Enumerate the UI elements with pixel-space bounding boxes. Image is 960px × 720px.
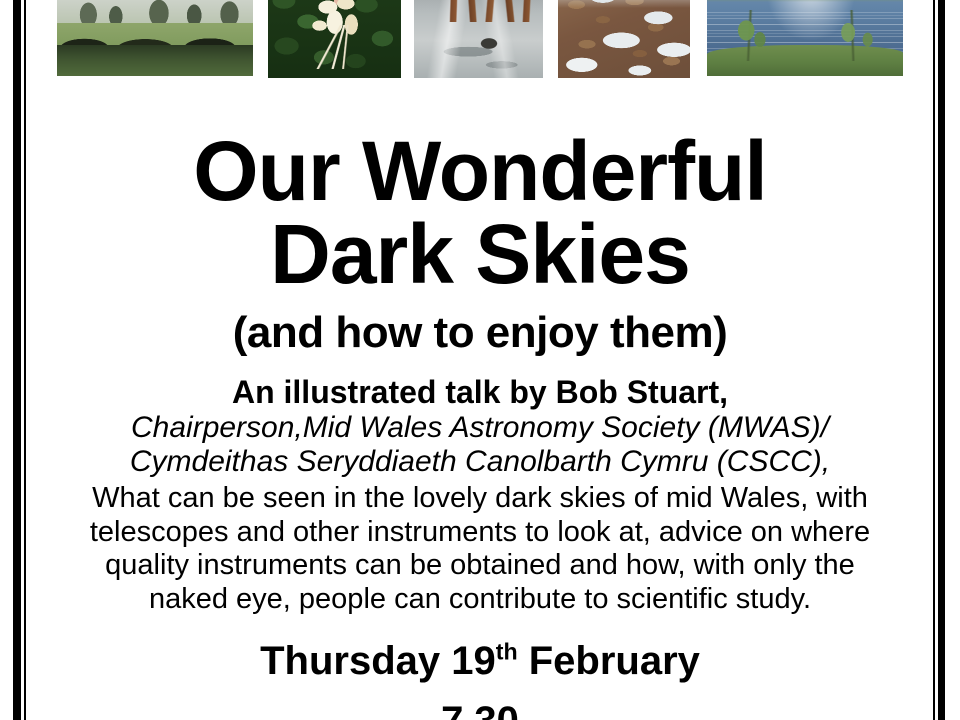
photo-honeysuckle-flowers: [266, 0, 403, 80]
description-line-3: quality instruments can be obtained and …: [30, 549, 930, 583]
photo-1-foreground: [57, 45, 253, 76]
photo-4-scene: [558, 0, 690, 78]
affiliation-line-1: Chairperson,Mid Wales Astronomy Society …: [30, 411, 930, 445]
event-date-ordinal: th: [496, 638, 518, 664]
photo-2-scene: [268, 0, 401, 78]
photo-3-tree-trunks: [414, 0, 543, 22]
poster-title-line-2: Dark Skies: [30, 213, 930, 296]
poster-title: Our Wonderful Dark Skies: [30, 130, 930, 296]
poster-title-line-1: Our Wonderful: [30, 130, 930, 213]
description-line-1: What can be seen in the lovely dark skie…: [30, 482, 930, 516]
photo-4-mist: [558, 0, 690, 8]
photo-4-snow-patches: [558, 0, 690, 78]
talk-description: What can be seen in the lovely dark skie…: [30, 482, 930, 617]
photo-trunks-on-ice: [412, 0, 545, 80]
event-time: 7.30: [30, 699, 930, 720]
event-date-prefix: Thursday 19: [260, 639, 496, 683]
affiliation-line-2: Cymdeithas Seryddiaeth Canolbarth Cymru …: [30, 445, 930, 479]
poster-page: Our Wonderful Dark Skies (and how to enj…: [0, 0, 960, 720]
poster-content: Our Wonderful Dark Skies (and how to enj…: [30, 96, 930, 720]
photo-strip: [0, 0, 960, 85]
photo-lake-wetland: [705, 0, 905, 78]
frame-rule-right-thin: [933, 0, 935, 720]
event-date: Thursday 19th February: [30, 639, 930, 683]
photo-5-far-bank: [707, 0, 903, 2]
photo-3-dark-patch: [479, 37, 500, 50]
photo-2-stamens: [308, 25, 372, 68]
photo-3-scene: [414, 0, 543, 78]
photo-1-scene: [57, 0, 253, 76]
speaker-affiliation: Chairperson,Mid Wales Astronomy Society …: [30, 411, 930, 478]
photo-5-trees: [707, 10, 903, 62]
frame-rule-left-thick: [13, 0, 21, 720]
description-line-2: telescopes and other instruments to look…: [30, 516, 930, 550]
description-line-4: naked eye, people can contribute to scie…: [30, 583, 930, 617]
event-date-suffix: February: [518, 639, 700, 683]
photo-5-scene: [707, 0, 903, 76]
poster-subtitle: (and how to enjoy them): [30, 310, 930, 356]
frame-rule-left-thin: [24, 0, 26, 720]
photo-snow-on-bracken: [556, 0, 692, 80]
photo-misty-parkland: [55, 0, 255, 78]
poster-byline: An illustrated talk by Bob Stuart,: [30, 375, 930, 410]
frame-rule-right-thick: [938, 0, 945, 720]
